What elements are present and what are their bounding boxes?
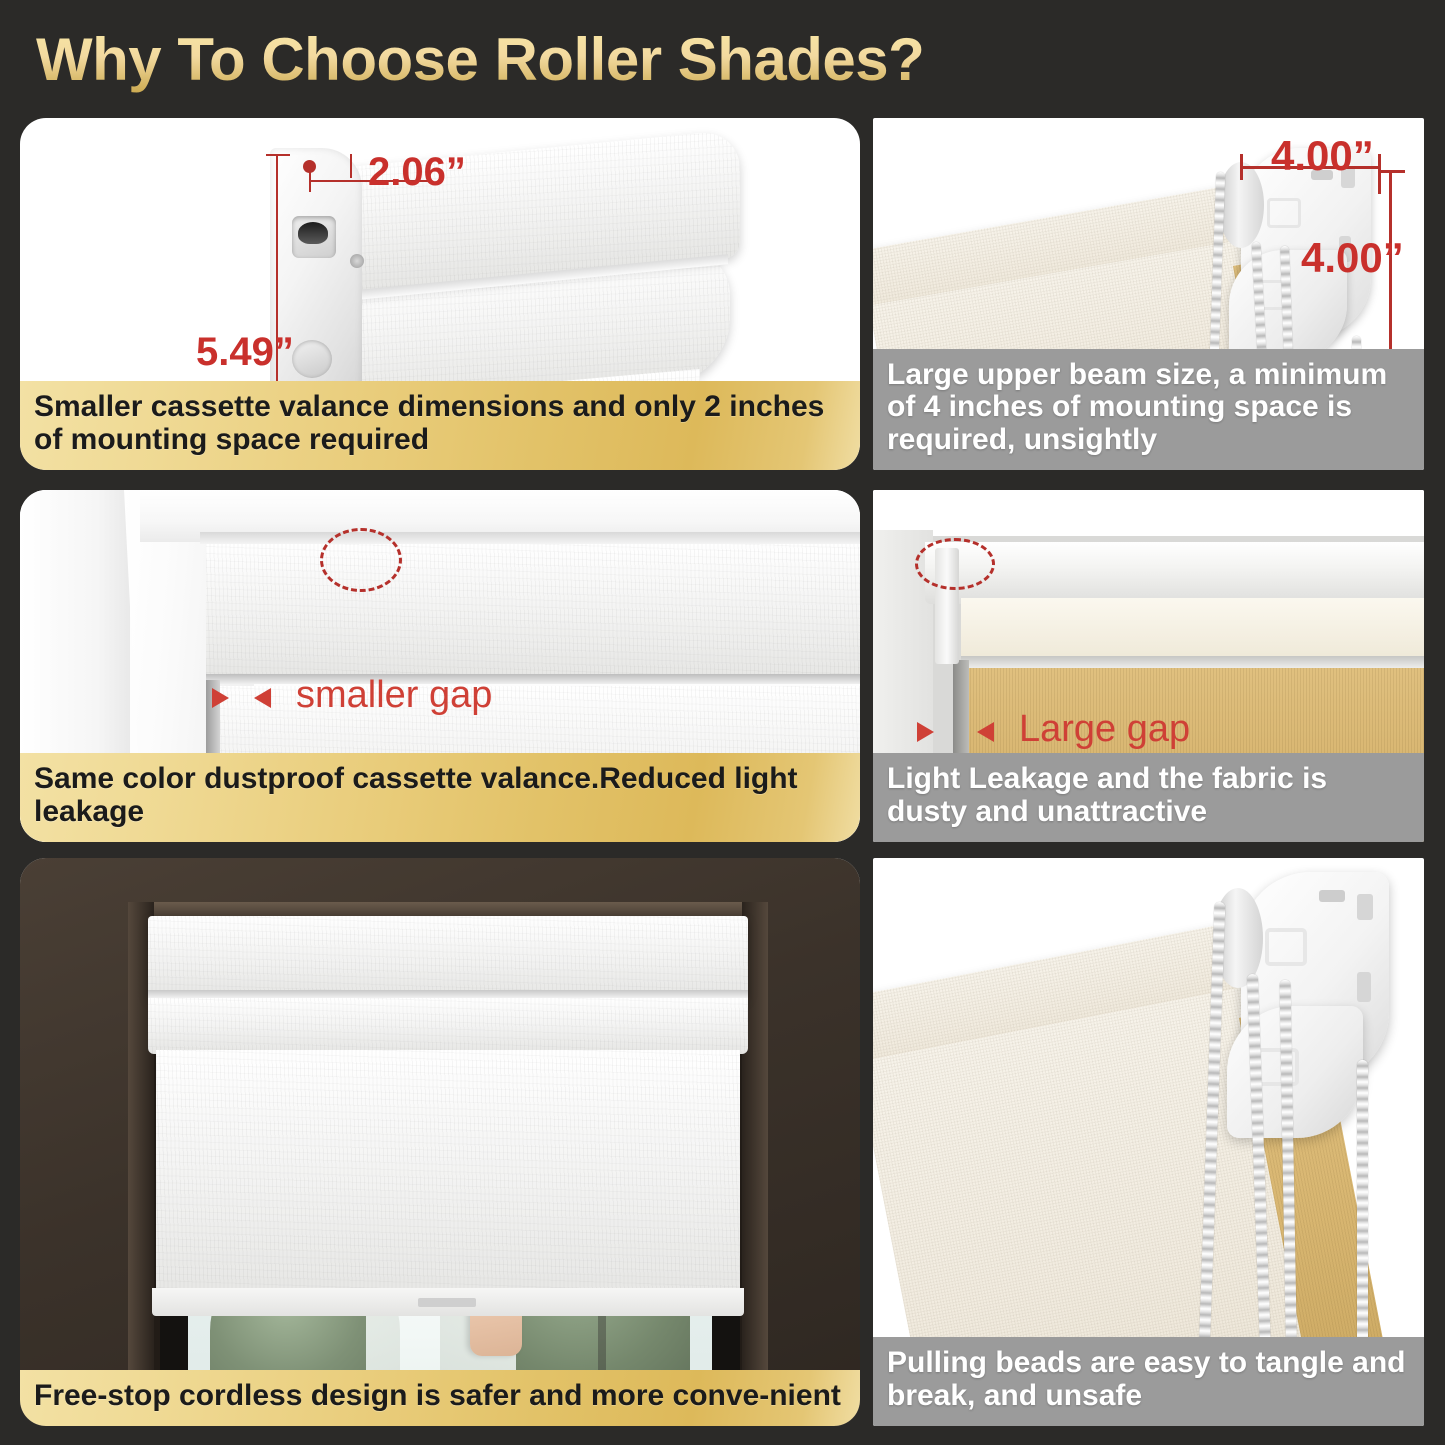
panel-bottom-right-caption-text: Pulling beads are easy to tangle and bre… (887, 1346, 1405, 1411)
height-dimension-label: 5.49” (196, 330, 294, 375)
bottom-rail-handle (418, 1298, 476, 1307)
valance-top-edge (200, 532, 860, 544)
rail-bottom-edge (961, 656, 1424, 668)
bracket-slot (292, 216, 336, 258)
panel-bottom-right: Pulling beads are easy to tangle and bre… (873, 858, 1424, 1426)
panel-mid-right: Large gap Light Leakage and the fabric i… (873, 490, 1424, 842)
page-title: Why To Choose Roller Shades? (36, 20, 1036, 98)
panel-top-left: 2.06” 5.49” Smaller cassette valance dim… (20, 118, 860, 470)
panel-bottom-left-photo (20, 858, 860, 1426)
panel-mid-left: smaller gap Same color dustproof cassett… (20, 490, 860, 842)
valance-lower-lip (148, 998, 748, 1054)
panel-top-left-caption: Smaller cassette valance dimensions and … (20, 381, 860, 470)
height-dimension-tick-top (266, 154, 290, 156)
width-dimension-tick-left (309, 170, 311, 192)
top-width-tick-left (1240, 154, 1243, 180)
cassette-valance-face (206, 544, 860, 680)
panel-mid-right-caption: Light Leakage and the fabric is dusty an… (873, 753, 1424, 842)
valance-lip (961, 598, 1424, 660)
top-width-tick-right (1378, 154, 1381, 194)
cassette-valance (148, 916, 748, 998)
smaller-gap-label: smaller gap (296, 674, 492, 717)
head-rail (925, 542, 1424, 604)
width-dimension-label: 2.06” (368, 150, 466, 195)
right-height-tick-top (1379, 170, 1405, 173)
panel-top-right-caption-text: Large upper beam size, a minimum of 4 in… (887, 358, 1387, 456)
panel-mid-right-caption-text: Light Leakage and the fabric is dusty an… (887, 762, 1327, 827)
infographic-page: Why To Choose Roller Shades? (0, 0, 1445, 1445)
roller-bracket-lower (1227, 1006, 1363, 1138)
detail-highlight-ellipse (915, 538, 995, 590)
large-gap-label: Large gap (1019, 708, 1190, 751)
panel-bottom-left: Free-stop cordless design is safer and m… (20, 858, 860, 1426)
panel-mid-left-caption-text: Same color dustproof cassette valance.Re… (34, 762, 798, 827)
panel-top-left-caption-text: Smaller cassette valance dimensions and … (34, 390, 824, 455)
gap-arrow-left (212, 688, 229, 708)
panel-mid-left-caption: Same color dustproof cassette valance.Re… (20, 753, 860, 842)
gap-arrow-right (254, 688, 271, 708)
top-width-dimension-label: 4.00” (1271, 132, 1374, 180)
side-height-dimension-label: 4.00” (1301, 234, 1404, 282)
panel-bottom-left-caption-text: Free-stop cordless design is safer and m… (34, 1379, 841, 1412)
detail-highlight-ellipse (320, 528, 402, 592)
panel-top-right: 4.00” 4.00” Large upper beam size, a min… (873, 118, 1424, 470)
bead-chain-right (1357, 1060, 1368, 1382)
ceiling-strip (873, 490, 1424, 536)
shade-fabric-panel (156, 1050, 740, 1302)
panel-bottom-right-caption: Pulling beads are easy to tangle and bre… (873, 1337, 1424, 1426)
page-title-text: Why To Choose Roller Shades? (36, 25, 924, 94)
panel-top-right-caption: Large upper beam size, a minimum of 4 in… (873, 349, 1424, 470)
gap-arrow-left (917, 722, 934, 742)
bracket-pin (350, 254, 364, 268)
bracket-screw (292, 340, 332, 378)
panel-bottom-left-caption: Free-stop cordless design is safer and m… (20, 1370, 860, 1426)
width-dimension-tick-right (350, 154, 352, 178)
gap-arrow-right (977, 722, 994, 742)
